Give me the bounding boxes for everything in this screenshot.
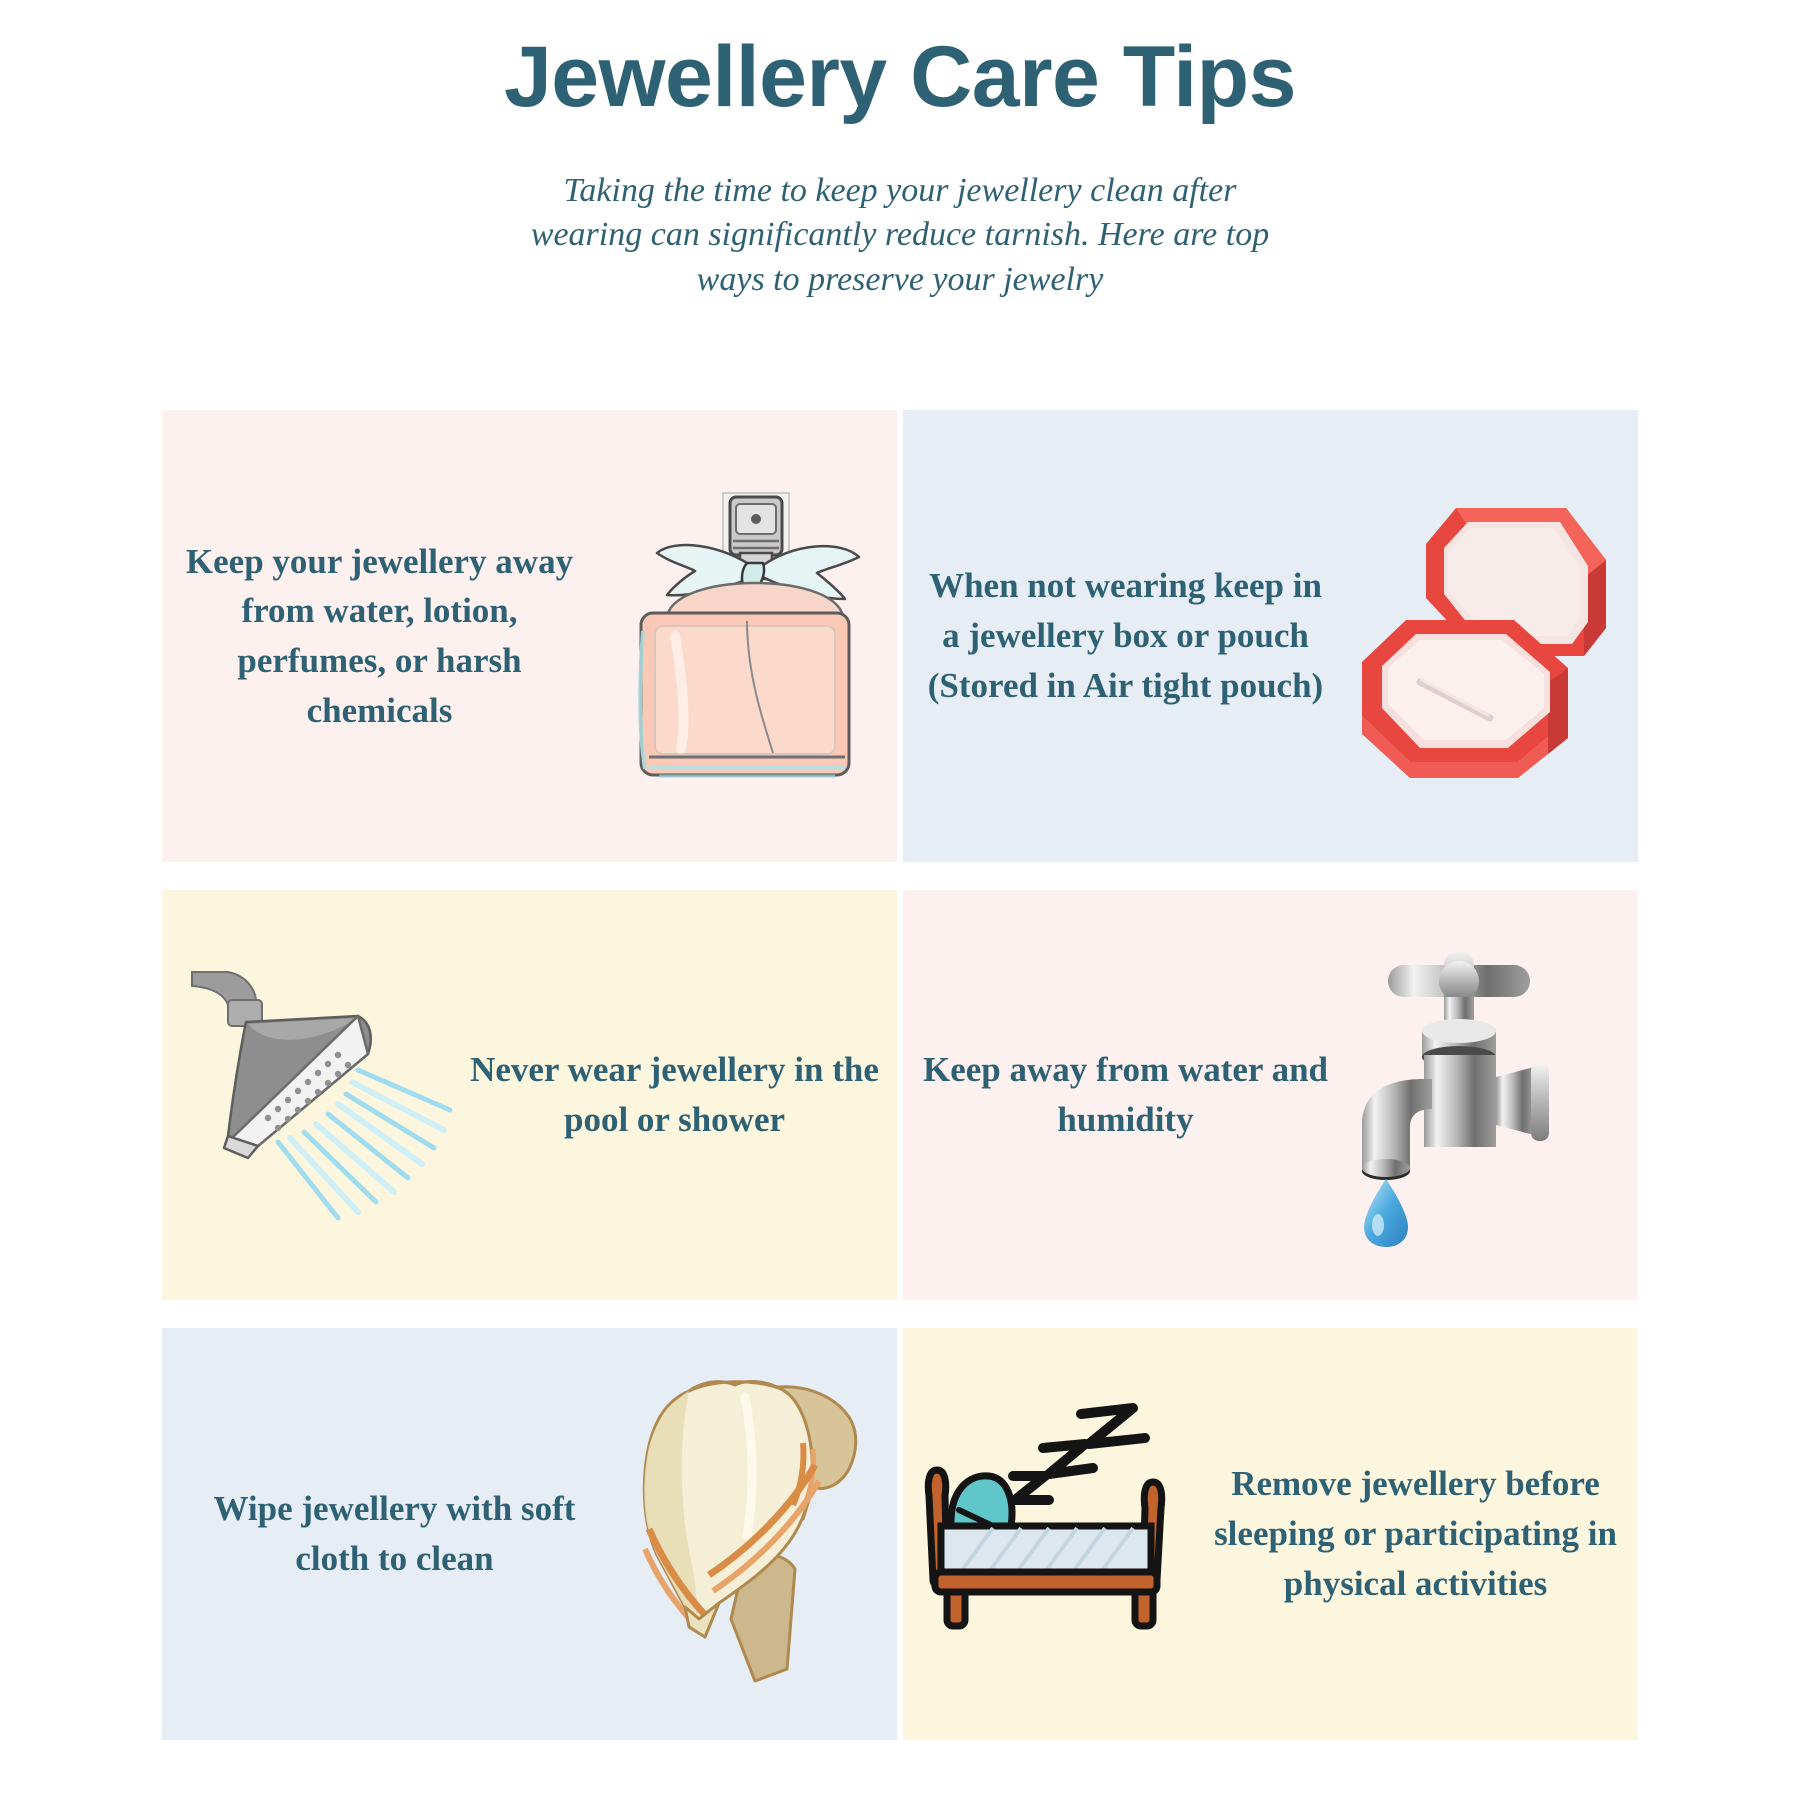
perfume-bottle-icon: [597, 471, 897, 801]
tip-card-text: Keep away from water and humidity: [903, 1045, 1348, 1144]
tips-grid: Keep your jewellery away from water, lot…: [162, 410, 1638, 1740]
tip-card-text: When not wearing keep in a jewellery box…: [903, 561, 1348, 710]
tip-card-text: Keep your jewellery away from water, lot…: [162, 537, 597, 736]
tip-card-text: Wipe jewellery with soft cloth to clean: [162, 1484, 627, 1583]
tip-card-wipe-with-cloth: Wipe jewellery with soft cloth to clean: [162, 1328, 897, 1740]
shower-head-icon: [162, 950, 452, 1240]
sleeping-bed-icon: [903, 1404, 1193, 1664]
tip-card-store-in-box: When not wearing keep in a jewellery box…: [903, 410, 1638, 862]
tip-card-remove-before-sleep: Remove jewellery before sleeping or part…: [903, 1328, 1638, 1740]
faucet-icon: [1348, 945, 1638, 1245]
tip-card-no-pool-shower: Never wear jewellery in the pool or show…: [162, 890, 897, 1300]
tip-card-avoid-chemicals: Keep your jewellery away from water, lot…: [162, 410, 897, 862]
tip-card-text: Remove jewellery before sleeping or part…: [1193, 1459, 1638, 1608]
tip-card-avoid-humidity: Keep away from water and humidity: [903, 890, 1638, 1300]
jewellery-box-icon: [1348, 486, 1638, 786]
header: Jewellery Care Tips Taking the time to k…: [0, 0, 1800, 303]
infographic-page: Jewellery Care Tips Taking the time to k…: [0, 0, 1800, 1800]
cloth-icon: [627, 1369, 897, 1699]
page-title: Jewellery Care Tips: [0, 30, 1800, 125]
page-subtitle: Taking the time to keep your jewellery c…: [505, 169, 1295, 304]
tip-card-text: Never wear jewellery in the pool or show…: [452, 1045, 897, 1144]
